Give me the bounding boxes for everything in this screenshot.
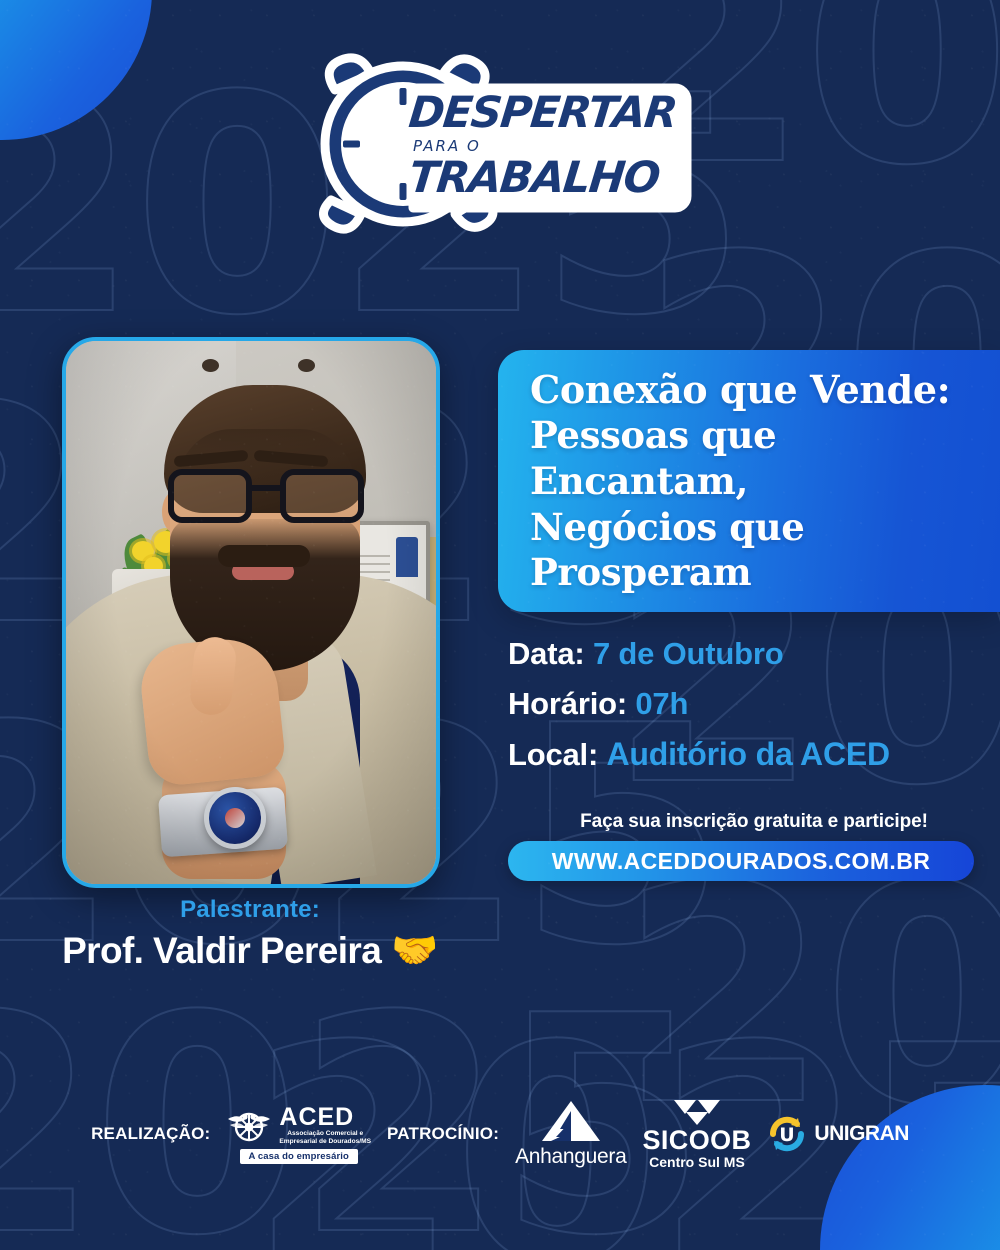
detail-label-data: Data:: [508, 636, 585, 671]
logo-line-despertar: DESPERTAR: [407, 92, 698, 135]
handshake-icon: 🤝: [391, 932, 438, 970]
sponsors-footer: REALIZAÇÃO:: [0, 1098, 1000, 1170]
detail-value-local: Auditório da ACED: [607, 736, 890, 772]
aced-tagline: A casa do empresário: [240, 1149, 358, 1164]
cta-subscribe-text: Faça sua inscrição gratuita e participe!: [508, 811, 1000, 833]
detail-row-local: Local: Auditório da ACED: [508, 736, 1000, 773]
title-line-1: Conexão que Vende:: [530, 366, 966, 413]
sicoob-logo: SICOOB Centro Sul MS: [643, 1098, 752, 1170]
unigran-logo: U UNIGRAN: [767, 1114, 909, 1154]
brand-logo: DESPERTAR PARA O TRABALHO: [0, 52, 1000, 237]
unigran-name: UNIGRAN: [814, 1122, 909, 1146]
realizacao-label: REALIZAÇÃO:: [91, 1124, 210, 1144]
sicoob-triangle-icon: [670, 1098, 724, 1126]
aced-logo: ACED Associação Comercial e Empresarial …: [226, 1105, 371, 1164]
speaker-photo: [62, 337, 440, 888]
detail-row-data: Data: 7 de Outubro: [508, 636, 1000, 672]
detail-value-horario: 07h: [635, 686, 688, 721]
detail-label-local: Local:: [508, 737, 598, 772]
anhanguera-pyramid-icon: [540, 1099, 602, 1143]
speaker-block: Palestrante: Prof. Valdir Pereira 🤝: [0, 896, 500, 972]
patrocinio-label: PATROCÍNIO:: [387, 1124, 499, 1144]
title-line-2: Pessoas que Encantam,: [530, 413, 966, 505]
anhanguera-name: Anhanguera: [515, 1145, 626, 1169]
speaker-name-row: Prof. Valdir Pereira 🤝: [0, 930, 500, 972]
speaker-label: Palestrante:: [0, 896, 500, 924]
detail-row-horario: Horário: 07h: [508, 686, 1000, 722]
sicoob-subtitle: Centro Sul MS: [649, 1155, 745, 1170]
photo-vignette: [66, 341, 436, 884]
sicoob-name: SICOOB: [643, 1127, 752, 1154]
svg-text:U: U: [780, 1124, 795, 1146]
speaker-name: Prof. Valdir Pereira: [62, 930, 381, 972]
event-title-card: Conexão que Vende: Pessoas que Encantam,…: [498, 350, 1000, 612]
aced-name: ACED: [279, 1105, 354, 1130]
event-poster: 2025 2025 2025 2025 2025 2025 2025 2025 …: [0, 0, 1000, 1250]
anhanguera-logo: Anhanguera: [515, 1099, 626, 1169]
aced-subtitle-line1: Associação Comercial e: [279, 1130, 371, 1138]
title-line-3: Negócios que Prosperam: [530, 505, 966, 597]
detail-label-horario: Horário:: [508, 686, 627, 721]
unigran-circular-arrow-icon: U: [767, 1114, 807, 1154]
aced-winged-wheel-icon: [226, 1107, 272, 1143]
logo-line-trabalho: TRABALHO: [407, 157, 698, 200]
cta-website-button[interactable]: WWW.ACEDDOURADOS.COM.BR: [508, 841, 974, 881]
cta-website-url: WWW.ACEDDOURADOS.COM.BR: [552, 848, 930, 875]
event-details: Data: 7 de Outubro Horário: 07h Local: A…: [508, 636, 1000, 787]
aced-subtitle-line2: Empresarial de Dourados/MS: [279, 1138, 371, 1146]
detail-value-data: 7 de Outubro: [593, 636, 784, 671]
